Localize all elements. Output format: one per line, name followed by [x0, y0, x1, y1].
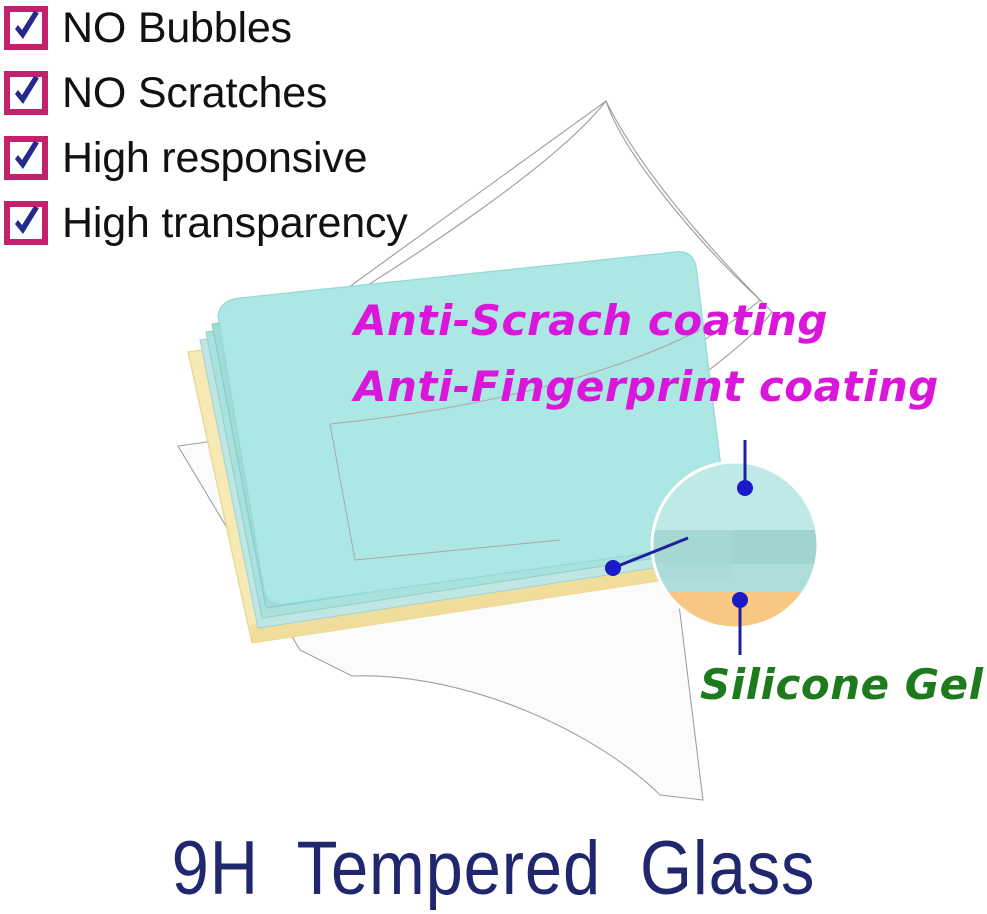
annotation-silicone-gel: Silicone Gel [700, 660, 984, 709]
feature-item-no-bubbles: NO Bubbles [4, 2, 292, 54]
checkbox-checked-icon [4, 136, 48, 180]
feature-label: NO Scratches [62, 71, 327, 115]
feature-label: High transparency [62, 201, 408, 245]
annotation-anti-fingerprint: Anti-Fingerprint coating [354, 362, 939, 411]
infographic-canvas: NO Bubbles NO Scratches High responsive [0, 0, 987, 914]
checkbox-checked-icon [4, 201, 48, 245]
annotation-anti-scratch: Anti-Scrach coating [354, 296, 828, 345]
checkbox-checked-icon [4, 71, 48, 115]
product-title: 9H Tempered Glass [59, 826, 928, 912]
feature-label: NO Bubbles [62, 6, 292, 50]
feature-item-high-transparency: High transparency [4, 197, 408, 249]
feature-item-high-responsive: High responsive [4, 132, 367, 184]
feature-item-no-scratches: NO Scratches [4, 67, 327, 119]
checkbox-checked-icon [4, 6, 48, 50]
feature-label: High responsive [62, 136, 367, 180]
